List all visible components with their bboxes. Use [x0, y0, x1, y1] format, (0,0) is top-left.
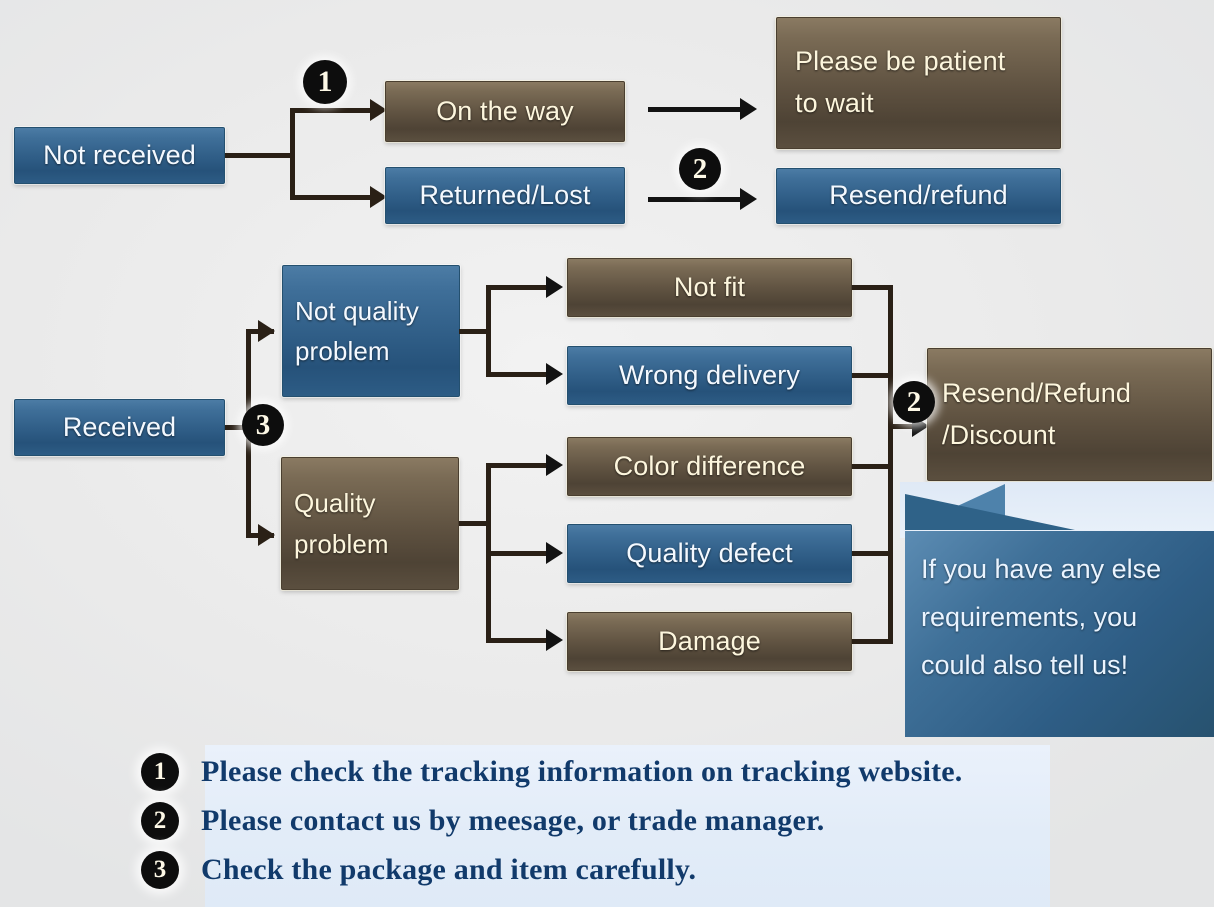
legend-number-3-label: 3	[154, 856, 167, 884]
marker-1-icon: 1	[303, 60, 347, 104]
not-quality-line-1: Not quality	[295, 296, 419, 326]
node-quality-problem-label: Quality problem	[294, 483, 446, 564]
node-color-difference-label: Color difference	[568, 446, 851, 488]
node-damage-label: Damage	[568, 621, 851, 663]
node-resend-refund-discount[interactable]: Resend/Refund /Discount	[927, 348, 1212, 481]
legend-text-2: Please contact us by meesage, or trade m…	[201, 804, 824, 838]
arrow-to-quality-problem	[258, 524, 275, 546]
legend-number-2-icon: 2	[141, 802, 179, 840]
speech-bubble[interactable]: If you have any else requirements, you c…	[905, 531, 1214, 737]
marker-2-right-icon: 2	[893, 381, 935, 423]
node-returned-lost[interactable]: Returned/Lost	[385, 167, 625, 224]
legend-item-1: 1 Please check the tracking information …	[141, 753, 963, 791]
node-received-label: Received	[15, 407, 224, 449]
not-quality-line-2: problem	[295, 336, 390, 366]
arrow-to-not-quality-problem	[258, 320, 275, 342]
node-not-received-label: Not received	[15, 135, 224, 177]
legend-number-1-label: 1	[154, 758, 167, 786]
node-received[interactable]: Received	[14, 399, 225, 456]
legend-number-2-label: 2	[154, 807, 167, 835]
connector-nr-split	[290, 108, 295, 200]
node-please-be-patient[interactable]: Please be patient to wait	[776, 17, 1061, 149]
please-wait-line-2: to wait	[795, 88, 874, 118]
node-color-difference[interactable]: Color difference	[567, 437, 852, 496]
node-wrong-delivery[interactable]: Wrong delivery	[567, 346, 852, 405]
node-resend-refund[interactable]: Resend/refund	[776, 168, 1061, 224]
node-wrong-delivery-label: Wrong delivery	[568, 355, 851, 397]
arrow-to-damage	[546, 629, 563, 651]
arrow-to-quality-defect	[546, 542, 563, 564]
node-not-fit[interactable]: Not fit	[567, 258, 852, 317]
please-wait-line-1: Please be patient	[795, 46, 1005, 76]
connector-rl-to-resend	[648, 197, 744, 202]
legend-number-1-icon: 1	[141, 753, 179, 791]
connector-nqp-split	[486, 285, 491, 377]
legend-text-3: Check the package and item carefully.	[201, 853, 696, 887]
speech-bubble-tail-lower	[905, 494, 1075, 530]
arrow-to-please-wait	[740, 98, 757, 120]
marker-2-top-icon: 2	[679, 148, 721, 190]
connector-gather-damage	[852, 639, 892, 644]
legend-item-3: 3 Check the package and item carefully.	[141, 851, 696, 889]
connector-nr-stem	[225, 153, 293, 158]
node-quality-problem[interactable]: Quality problem	[281, 457, 459, 590]
connector-gather-notfit	[852, 285, 892, 290]
arrow-to-wrong-delivery	[546, 363, 563, 385]
bubble-line-3: could also tell us!	[921, 650, 1128, 680]
marker-2-top-label: 2	[693, 153, 708, 186]
node-please-be-patient-label: Please be patient to wait	[795, 41, 1042, 125]
connector-qp-mid	[486, 551, 550, 556]
connector-otw-to-wait	[648, 107, 744, 112]
node-not-received[interactable]: Not received	[14, 127, 225, 184]
speech-bubble-text: If you have any else requirements, you c…	[921, 545, 1198, 689]
arrow-to-not-fit	[546, 276, 563, 298]
node-returned-lost-label: Returned/Lost	[386, 175, 624, 217]
quality-line-2: problem	[294, 529, 389, 559]
node-quality-defect-label: Quality defect	[568, 533, 851, 575]
node-on-the-way-label: On the way	[386, 91, 624, 133]
node-quality-defect[interactable]: Quality defect	[567, 524, 852, 583]
marker-3-label: 3	[256, 409, 271, 442]
connector-gather-wrongdel	[852, 373, 892, 378]
quality-line-1: Quality	[294, 488, 376, 518]
node-not-quality-problem[interactable]: Not quality problem	[282, 265, 460, 397]
marker-2-right-label: 2	[907, 386, 922, 419]
marker-3-icon: 3	[242, 404, 284, 446]
connector-qp-low	[486, 638, 550, 643]
connector-nr-up	[290, 108, 374, 113]
arrow-to-color-difference	[546, 454, 563, 476]
connector-qp-stem	[459, 521, 489, 526]
node-resend-refund-label: Resend/refund	[777, 175, 1060, 217]
node-not-fit-label: Not fit	[568, 267, 851, 309]
connector-gather-qualitydef	[852, 551, 892, 556]
legend-text-1: Please check the tracking information on…	[201, 755, 963, 789]
node-not-quality-problem-label: Not quality problem	[295, 291, 447, 372]
connector-gather-colordiff	[852, 464, 892, 469]
connector-nr-down	[290, 195, 374, 200]
flowchart-canvas: Not received 1 On the way Returned/Lost …	[0, 0, 1214, 907]
bubble-line-2: requirements, you	[921, 602, 1137, 632]
node-damage[interactable]: Damage	[567, 612, 852, 671]
connector-nqp-up	[486, 285, 550, 290]
node-resend-refund-discount-label: Resend/Refund /Discount	[942, 373, 1197, 457]
rrd-line-2: /Discount	[942, 420, 1055, 450]
connector-nqp-stem	[459, 329, 489, 334]
node-on-the-way[interactable]: On the way	[385, 81, 625, 142]
arrow-to-resend-refund	[740, 188, 757, 210]
connector-qp-up	[486, 463, 550, 468]
legend-item-2: 2 Please contact us by meesage, or trade…	[141, 802, 824, 840]
rrd-line-1: Resend/Refund	[942, 378, 1131, 408]
connector-gather-spine	[888, 285, 893, 644]
legend-number-3-icon: 3	[141, 851, 179, 889]
connector-nqp-down	[486, 372, 550, 377]
bubble-line-1: If you have any else	[921, 554, 1161, 584]
marker-1-label: 1	[318, 65, 333, 99]
